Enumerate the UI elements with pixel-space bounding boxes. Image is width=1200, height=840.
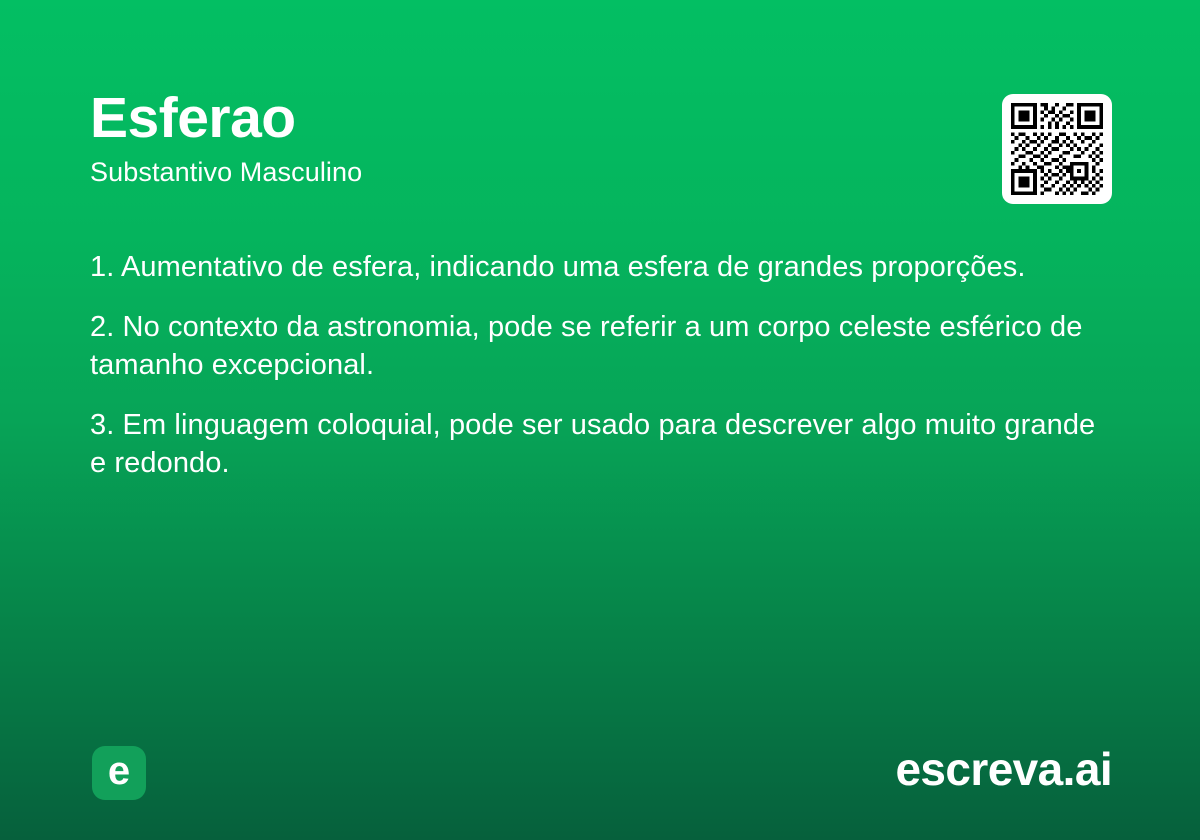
definition-list: 1. Aumentativo de esfera, indicando uma … [90, 248, 1110, 482]
qr-code-icon [1011, 103, 1103, 195]
definition-card: Esferao Substantivo Masculino [0, 0, 1200, 840]
brand-logo-letter: e [108, 751, 130, 791]
card-footer: e escreva.ai [0, 720, 1200, 840]
brand-wordmark: escreva.ai [895, 742, 1112, 797]
brand-logo-badge: e [92, 746, 146, 800]
card-header: Esferao Substantivo Masculino [90, 88, 1110, 188]
definition-item: 3. Em linguagem coloquial, pode ser usad… [90, 406, 1110, 482]
page-title: Esferao [90, 88, 1110, 148]
qr-code-panel[interactable] [1002, 94, 1112, 204]
definition-item: 1. Aumentativo de esfera, indicando uma … [90, 248, 1110, 286]
definition-item: 2. No contexto da astronomia, pode se re… [90, 308, 1110, 384]
part-of-speech-label: Substantivo Masculino [90, 157, 1110, 188]
